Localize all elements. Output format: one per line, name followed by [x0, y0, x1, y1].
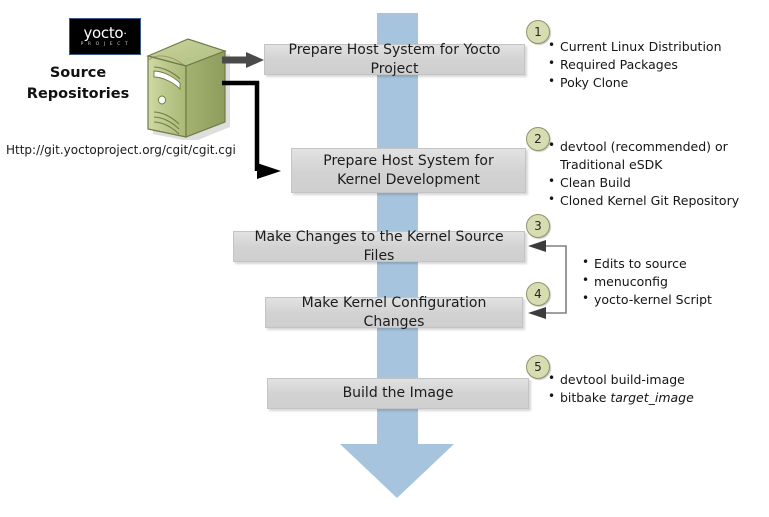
- note-item: Clean Build: [548, 174, 739, 192]
- yocto-logo-subtext: P R O J E C T: [81, 43, 130, 48]
- yocto-project-logo: yocto· P R O J E C T: [69, 18, 141, 55]
- note-bitbake-target: target_image: [610, 390, 693, 405]
- step-badge-4: 4: [526, 282, 550, 306]
- notes-steps-3-and-4: Edits to source menuconfig yocto-kernel …: [582, 255, 712, 309]
- notes-step-5: devtool build-image bitbake target_image: [548, 371, 694, 407]
- yocto-logo-dot: ·: [123, 27, 126, 40]
- step-badge-1: 1: [526, 20, 550, 44]
- yocto-logo-word-text: yocto: [83, 24, 123, 42]
- note-item: Cloned Kernel Git Repository: [548, 192, 739, 210]
- note-item: Current Linux Distribution: [548, 38, 722, 56]
- notes-step-2: devtool (recommended) or Traditional eSD…: [548, 138, 739, 211]
- note-item: menuconfig: [582, 273, 712, 291]
- source-repository-url: Http://git.yoctoproject.org/cgit/cgit.cg…: [6, 143, 236, 157]
- notes-step-1: Current Linux Distribution Required Pack…: [548, 38, 722, 92]
- step-badge-3: 3: [526, 214, 550, 238]
- source-repositories-label: Source Repositories: [16, 63, 140, 105]
- note-item: Edits to source: [582, 255, 712, 273]
- note-bitbake-prefix: bitbake: [560, 390, 610, 405]
- step-badge-5: 5: [526, 355, 550, 379]
- note-item: devtool (recommended) or Traditional eSD…: [548, 138, 739, 174]
- step-badge-2: 2: [526, 127, 550, 151]
- source-label-line2: Repositories: [16, 84, 140, 105]
- note-item: Required Packages: [548, 56, 722, 74]
- note-item: devtool build-image: [548, 371, 694, 389]
- yocto-logo-wordmark: yocto·: [83, 26, 126, 41]
- process-box-step-2[interactable]: Prepare Host System for Kernel Developme…: [291, 148, 526, 193]
- source-label-line1: Source: [16, 63, 140, 84]
- note-item: Poky Clone: [548, 74, 722, 92]
- server-tower-icon: [136, 36, 230, 140]
- process-box-step-5[interactable]: Build the Image: [267, 378, 529, 409]
- note-item: yocto-kernel Script: [582, 291, 712, 309]
- process-box-step-4[interactable]: Make Kernel Configuration Changes: [265, 297, 523, 328]
- workflow-spine-arrow-icon: [340, 444, 454, 498]
- process-box-step-1[interactable]: Prepare Host System for Yocto Project: [264, 44, 525, 75]
- process-box-step-3[interactable]: Make Changes to the Kernel Source Files: [233, 231, 525, 262]
- note-item-italic-target: bitbake target_image: [548, 389, 694, 407]
- diagram-canvas: yocto· P R O J E C T Source Repositories…: [0, 0, 769, 517]
